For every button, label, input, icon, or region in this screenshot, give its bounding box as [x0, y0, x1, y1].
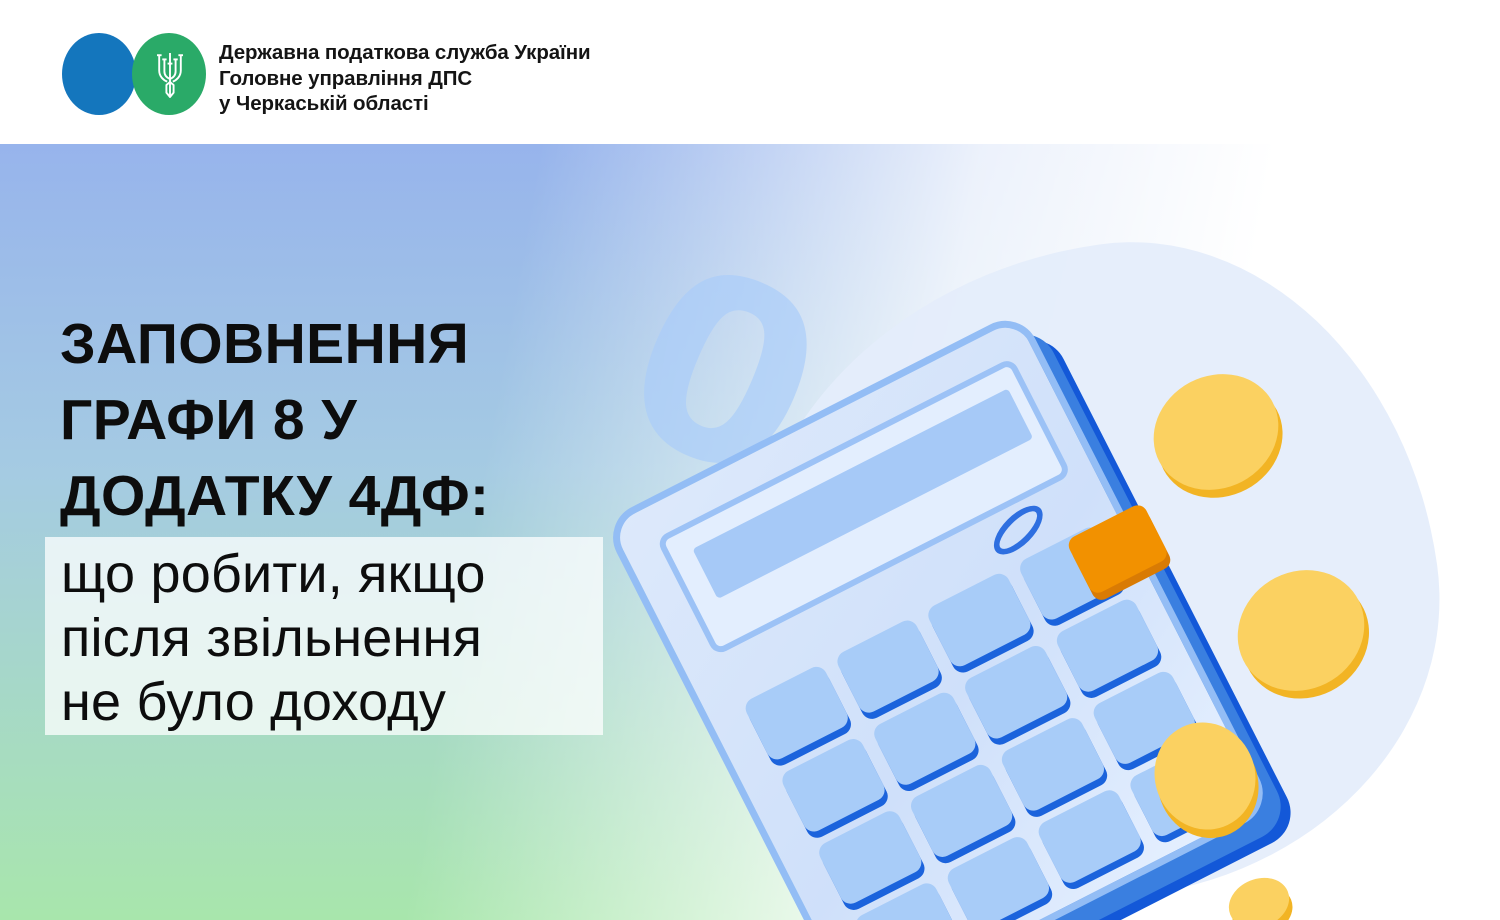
headline-line-2: ГРАФИ 8 У: [60, 382, 660, 458]
dps-logo: [62, 33, 214, 115]
headline-line-1: ЗАПОВНЕННЯ: [60, 306, 660, 382]
page-subtitle: що робити, якщо після звільнення не було…: [61, 542, 606, 734]
headline-line-3: ДОДАТКУ 4ДФ:: [60, 458, 660, 534]
org-line-2: Головне управління ДПС: [219, 66, 839, 92]
subtitle-line-2: після звільнення: [61, 606, 606, 670]
blue-circle-icon: [62, 33, 136, 115]
poster-canvas: %: [0, 144, 1500, 920]
org-line-3: у Черкаській області: [219, 91, 839, 117]
page-title: ЗАПОВНЕННЯ ГРАФИ 8 У ДОДАТКУ 4ДФ:: [60, 306, 660, 534]
organization-title: Державна податкова служба України Головн…: [219, 40, 839, 117]
poster-root: Державна податкова служба України Головн…: [0, 0, 1500, 920]
header-bar: Державна податкова служба України Головн…: [0, 0, 1500, 144]
subtitle-line-1: що робити, якщо: [61, 542, 606, 606]
ukraine-trident-icon: [154, 49, 186, 101]
subtitle-line-3: не було доходу: [61, 670, 606, 734]
org-line-1: Державна податкова служба України: [219, 40, 839, 66]
